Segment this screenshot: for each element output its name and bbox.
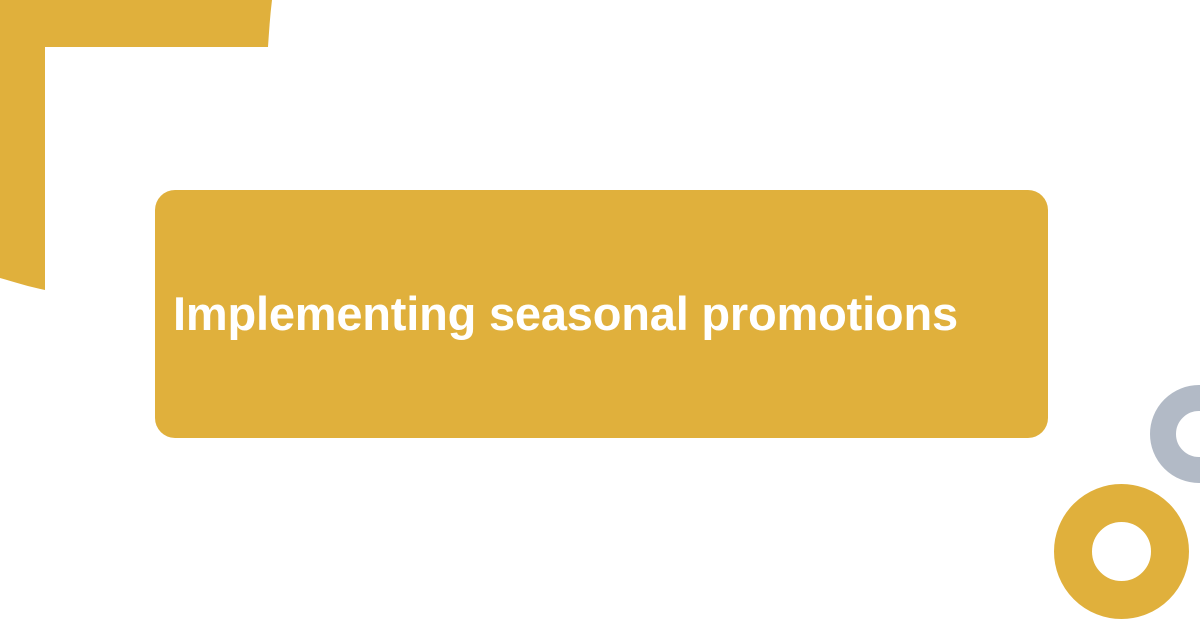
title-card: Implementing seasonal promotions	[155, 190, 1048, 438]
gray-ring-icon	[1150, 385, 1200, 483]
page-title: Implementing seasonal promotions	[173, 288, 958, 341]
promotional-banner: Implementing seasonal promotions	[0, 0, 1200, 630]
yellow-ring-icon	[1054, 484, 1189, 619]
